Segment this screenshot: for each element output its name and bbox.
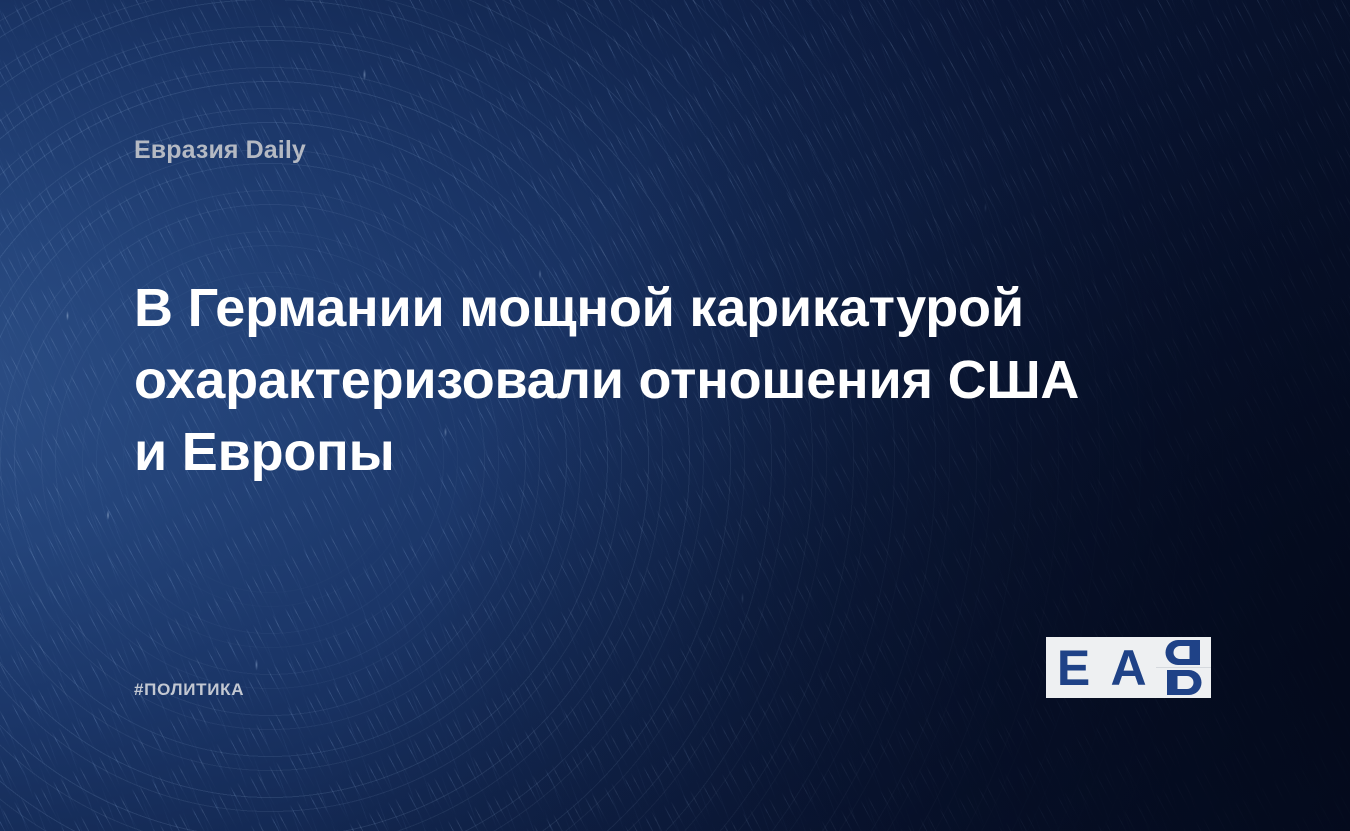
category-tag[interactable]: #ПОЛИТИКА: [134, 680, 244, 700]
headline-line-2: охарактеризовали отношения США: [134, 344, 1114, 416]
eadaily-logo[interactable]: E A: [1046, 637, 1211, 698]
logo-tile-d: [1156, 637, 1211, 698]
site-name: Евразия Daily: [134, 136, 306, 165]
double-d-icon: [1156, 637, 1211, 698]
article-cover-card: Евразия Daily В Германии мощной карикату…: [0, 0, 1350, 831]
logo-tile-a: A: [1101, 637, 1156, 698]
cover-content: Евразия Daily В Германии мощной карикату…: [0, 0, 1350, 831]
logo-letter-e: E: [1057, 643, 1090, 693]
logo-letter-a: A: [1110, 643, 1146, 693]
headline-line-3: и Европы: [134, 416, 1114, 488]
page-title: В Германии мощной карикатурой охарактери…: [134, 272, 1114, 488]
headline-line-1: В Германии мощной карикатурой: [134, 272, 1114, 344]
logo-tile-e: E: [1046, 637, 1101, 698]
